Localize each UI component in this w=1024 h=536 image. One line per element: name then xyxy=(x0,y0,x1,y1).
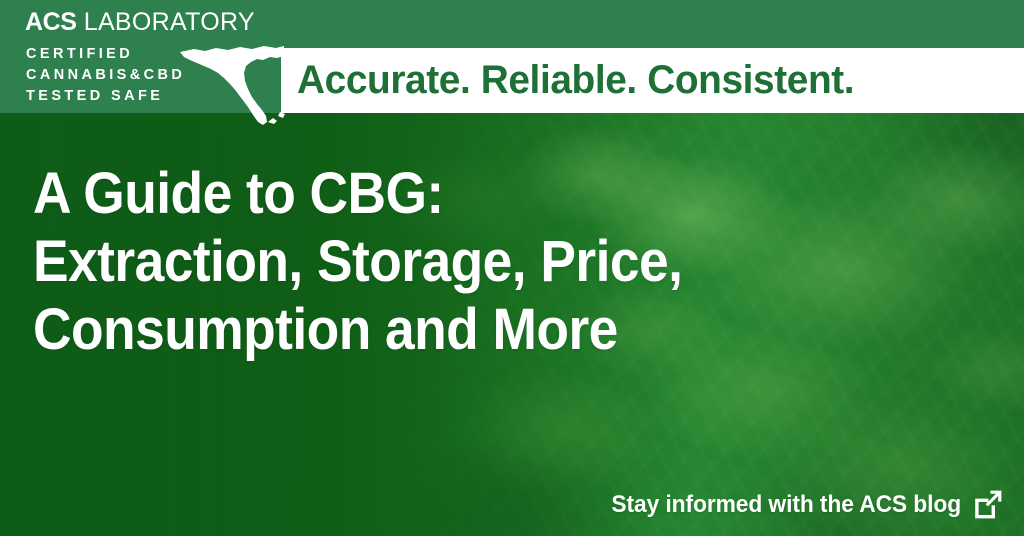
brand-primary-text: ACS xyxy=(25,8,77,36)
brand-secondary-text: LABORATORY xyxy=(84,8,255,36)
acs-laboratory-wordmark: ACS LABORATORY xyxy=(25,9,255,35)
subline-cannabis-cbd: CANNABIS&CBD xyxy=(26,65,185,86)
cta-label: Stay informed with the ACS blog xyxy=(611,491,961,519)
headline-line-3: Consumption and More xyxy=(33,296,824,364)
florida-state-outline-icon xyxy=(178,42,286,126)
headline-line-2: Extraction, Storage, Price, xyxy=(33,228,824,296)
header-top-green-strip xyxy=(281,0,1024,48)
subline-tested-safe: TESTED SAFE xyxy=(26,86,185,107)
acs-laboratory-blog-banner: ACS LABORATORY CERTIFIED CANNABIS&CBD TE… xyxy=(0,0,1024,536)
tagline-text: Accurate. Reliable. Consistent. xyxy=(297,48,995,113)
logo-certification-sublines: CERTIFIED CANNABIS&CBD TESTED SAFE xyxy=(26,44,185,107)
external-link-icon[interactable] xyxy=(972,490,1002,520)
subline-certified: CERTIFIED xyxy=(26,44,185,65)
headline-line-1: A Guide to CBG: xyxy=(33,160,824,228)
page-title: A Guide to CBG: Extraction, Storage, Pri… xyxy=(33,160,824,364)
stay-informed-blog-link[interactable]: Stay informed with the ACS blog xyxy=(593,490,1002,520)
banner-header: ACS LABORATORY CERTIFIED CANNABIS&CBD TE… xyxy=(0,0,1024,113)
